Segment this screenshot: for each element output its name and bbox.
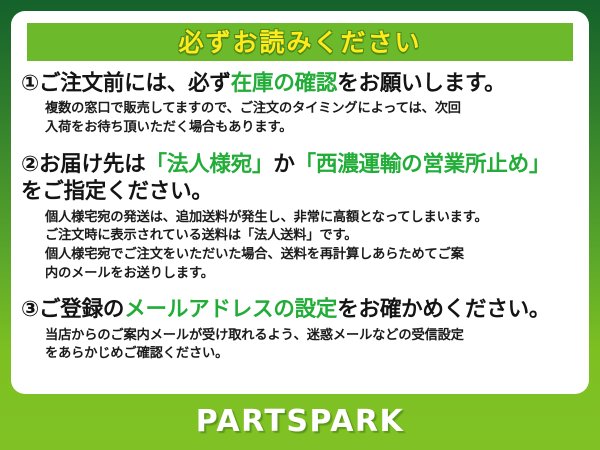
item-3-subtext: 当店からのご案内メールが受け取れるよう、迷惑メールなどの受信設定 をあらかじめご… [21,323,581,364]
brand-logo-text: PARTSPARK [196,407,405,437]
item-1-subtext-line-1: 複数の窓口で販売してますので、ご注文のタイミングによっては、次回 [45,100,581,119]
item-2-subtext-line-1: 個人様宅宛の発送は、追加送料が発生し、非常に高額となってしまいます。 [45,209,581,228]
notice-item-1: ①ご注文前には、必ず在庫の確認をお願いします。 複数の窓口で販売してますので、ご… [21,70,581,138]
item-1-heading-post: をお願いします。 [337,71,505,96]
item-3-heading: ③ご登録のメールアドレスの設定をお確かめください。 [21,296,581,323]
item-1-heading-pre: ①ご注文前には、必ず [21,71,231,96]
item-2-subtext: 個人様宅宛の発送は、追加送料が発生し、非常に高額となってしまいます。 ご注文時に… [21,205,581,284]
header-band: 必ずお読みください [27,23,573,61]
item-2-heading-line-2: をご指定ください。 [21,178,581,205]
notice-item-3: ③ご登録のメールアドレスの設定をお確かめください。 当店からのご案内メールが受け… [21,296,581,365]
notice-content: ①ご注文前には、必ず在庫の確認をお願いします。 複数の窓口で販売してますので、ご… [11,69,589,366]
item-1-subtext-line-2: 入荷をお待ち頂いただく場合もあります。 [45,119,581,138]
item-3-heading-pre: ③ご登録の [21,297,124,322]
notice-banner: 必ずお読みください ①ご注文前には、必ず在庫の確認をお願いします。 複数の窓口で… [0,0,600,450]
item-2-heading-mid: か [273,152,294,177]
item-2-heading-line-1: ②お届け先は「法人様宛」か「西濃運輸の営業所止め」 [21,151,581,178]
item-2-heading-accent-1: 「法人様宛」 [146,152,274,177]
notice-item-2: ②お届け先は「法人様宛」か「西濃運輸の営業所止め」 をご指定ください。 個人様宅… [21,151,581,284]
item-2-subtext-line-3: 個人様宅宛でご注文をいただいた場合、送料を再計算しあらためてご案 [45,246,581,265]
notice-card: 必ずお読みください ①ご注文前には、必ず在庫の確認をお願いします。 複数の窓口で… [11,11,589,394]
item-1-heading-accent: 在庫の確認 [231,71,338,96]
item-2-subtext-line-2: ご注文時に表示されている送料は「法人送料」です。 [45,227,581,246]
item-2-subtext-line-4: 内のメールをお送りします。 [45,265,581,284]
item-2-heading-pre: ②お届け先は [21,152,146,177]
header-title: 必ずお読みください [178,30,421,55]
item-3-heading-post: をお確かめください。 [337,297,550,322]
item-1-heading: ①ご注文前には、必ず在庫の確認をお願いします。 [21,70,581,97]
footer-band: PARTSPARK [0,394,600,450]
item-2-heading-accent-2: 「西濃運輸の営業所止め」 [295,152,551,177]
item-1-subtext: 複数の窓口で販売してますので、ご注文のタイミングによっては、次回 入荷をお待ち頂… [21,97,581,137]
item-3-subtext-line-2: をあらかじめご確認ください。 [45,345,581,364]
item-3-heading-accent: メールアドレスの設定 [124,297,337,322]
item-3-subtext-line-1: 当店からのご案内メールが受け取れるよう、迷惑メールなどの受信設定 [45,327,581,346]
